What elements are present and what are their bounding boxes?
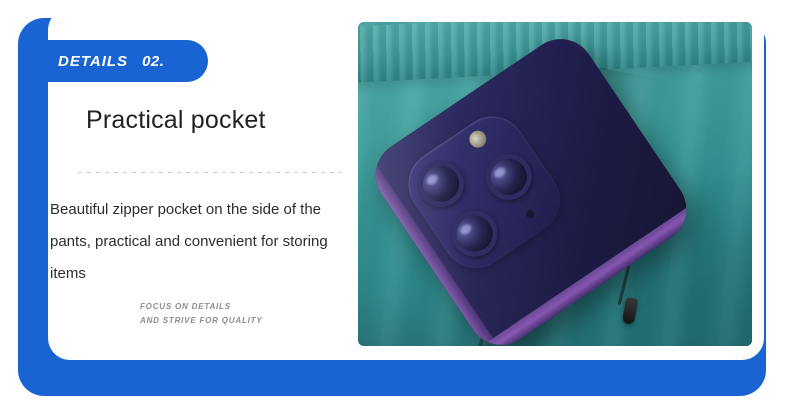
sub-note-line-2: AND STRIVE FOR QUALITY bbox=[140, 314, 263, 328]
text-column: DETAILS 02. Practical pocket Beautiful z… bbox=[48, 8, 368, 360]
details-tag-number: 02. bbox=[142, 53, 164, 70]
body-copy: Beautiful zipper pocket on the side of t… bbox=[50, 194, 362, 290]
details-tag-label: DETAILS bbox=[58, 53, 128, 70]
headline: Practical pocket bbox=[86, 106, 266, 135]
product-detail-banner: DETAILS 02. Practical pocket Beautiful z… bbox=[0, 0, 790, 407]
details-tag-badge: DETAILS 02. bbox=[32, 40, 208, 82]
sub-note-line-1: FOCUS ON DETAILS bbox=[140, 300, 263, 314]
product-photo bbox=[358, 22, 752, 346]
sub-note: FOCUS ON DETAILS AND STRIVE FOR QUALITY bbox=[140, 300, 263, 328]
dashed-divider bbox=[78, 168, 342, 176]
